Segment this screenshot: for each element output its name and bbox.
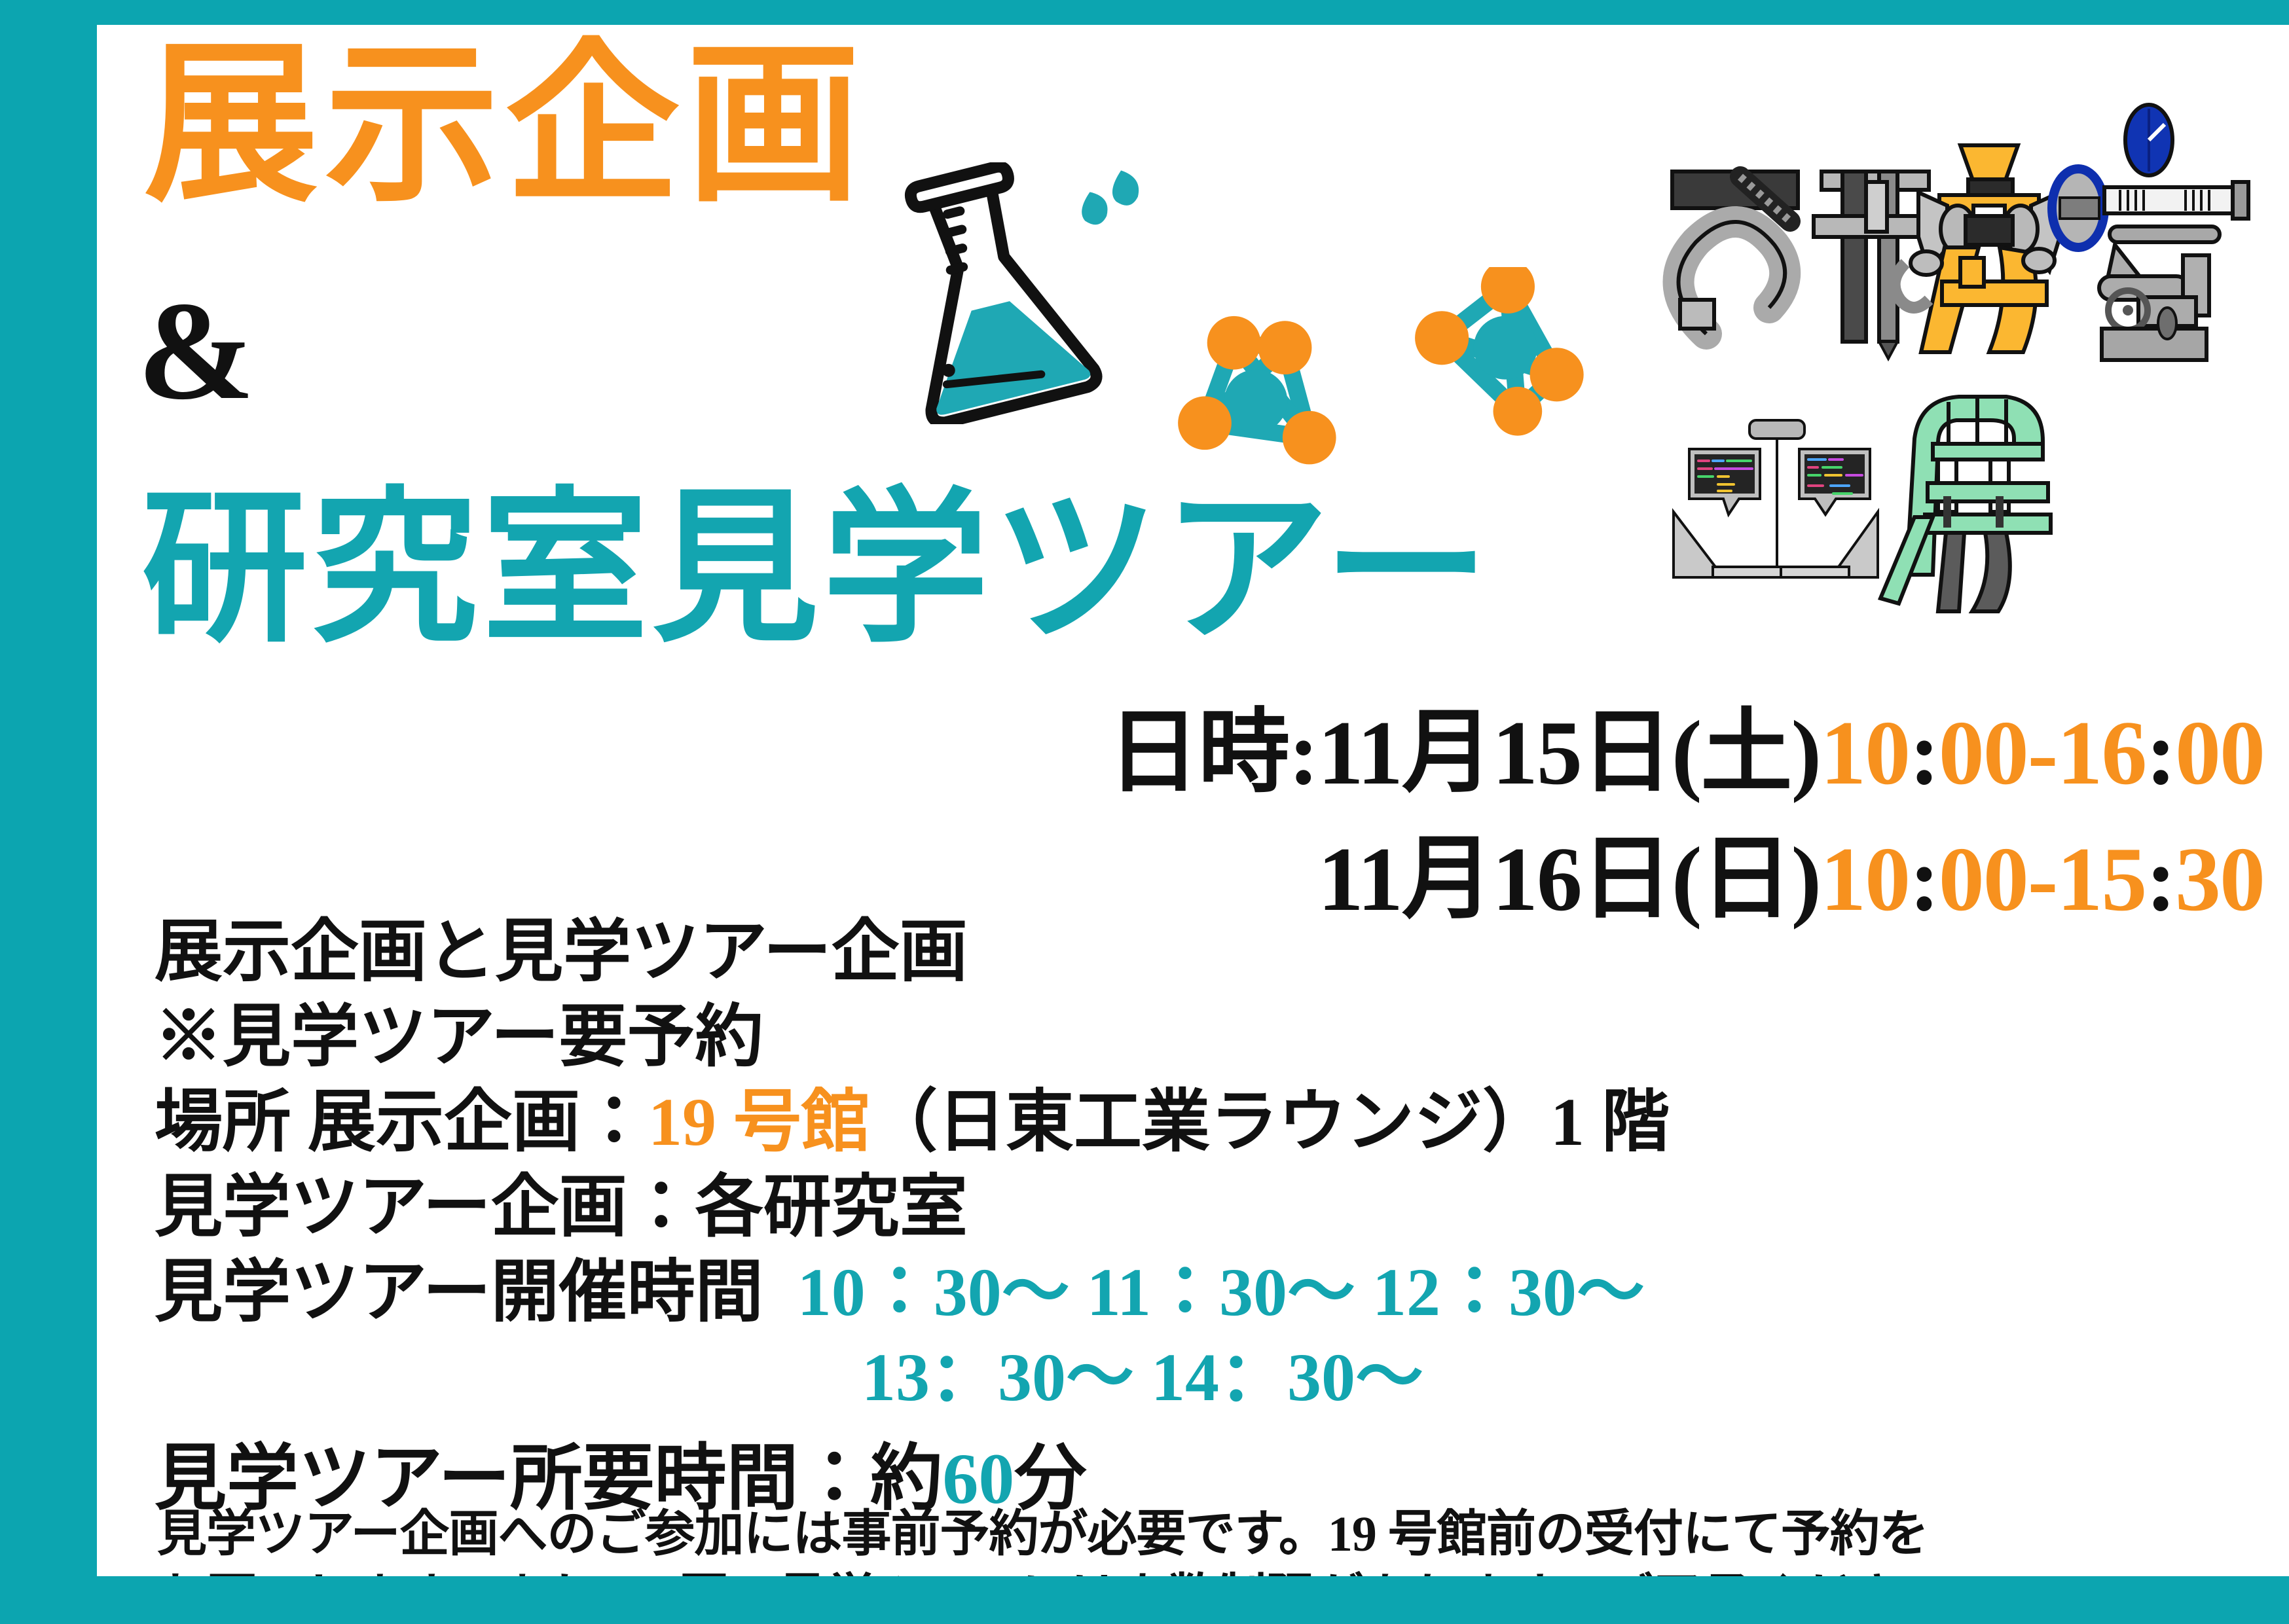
detail-tour-times-label: 見学ツアー開催時間 xyxy=(155,1255,763,1330)
lab-tools-typography-graphic xyxy=(1649,90,2251,365)
tour-time-4: 13：30～ xyxy=(862,1340,1134,1415)
detail-reservation-note: ※見学ツアー要予約 xyxy=(155,995,2250,1080)
poster-root: 展示企画 & 研究室見学ツアー xyxy=(0,0,2289,1624)
molecule-tetrahedron-icon xyxy=(1400,267,1596,450)
tour-time-1: 10：30～ xyxy=(797,1255,1070,1330)
detail-tour-times-row-2: 13：30～ 14：30～ xyxy=(155,1335,2250,1420)
datetime-dash-1: - xyxy=(2028,702,2057,804)
details-block: 展示企画と見学ツアー企画 ※見学ツアー要予約 場所 展示企画：19 号館（日東工… xyxy=(155,910,2250,1526)
detail-tour-times-row-1: 見学ツアー開催時間 10：30～ 11：30～ 12：30～ xyxy=(155,1250,2250,1335)
page-title-sub: 研究室見学ツアー xyxy=(141,487,1493,653)
liquid-splash-drops-icon xyxy=(1072,166,1158,238)
datetime-label: 日時: xyxy=(1108,702,1318,804)
datetime-start-hour-1: 10 xyxy=(1820,702,1909,804)
page-title-main: 展示企画 xyxy=(144,39,867,213)
tour-time-2: 11：30～ xyxy=(1087,1255,1355,1330)
exhibit-tech-typography-graphic xyxy=(1655,391,2179,627)
detail-tour-venue: 見学ツアー企画：各研究室 xyxy=(155,1165,2250,1250)
poster-inner-panel: 展示企画 & 研究室見学ツアー xyxy=(97,25,2289,1576)
tour-time-3: 12：30～ xyxy=(1372,1255,1645,1330)
datetime-end-min-1: 00 xyxy=(2175,702,2264,804)
detail-venue-label: 場所 展示企画： xyxy=(155,1085,648,1160)
datetime-block: 日時:11月15日(土)10:00-16:00 11月16日(日)10:00-1… xyxy=(97,690,2264,943)
datetime-colon-1a: : xyxy=(1909,702,1939,804)
detail-venue-building: 19 号館 xyxy=(648,1085,870,1160)
molecule-tetrahedron-icon xyxy=(1158,306,1354,477)
detail-venue-rest: （日東工業ラウンジ）1 階 xyxy=(870,1085,1670,1160)
datetime-start-min-1: 00 xyxy=(1939,702,2028,804)
detail-venue: 場所 展示企画：19 号館（日東工業ラウンジ）1 階 xyxy=(155,1080,2250,1165)
detail-overview: 展示企画と見学ツアー企画 xyxy=(155,910,2250,995)
datetime-end-hour-1: 16 xyxy=(2057,702,2146,804)
fineprint-line-1: 見学ツアー企画へのご参加には事前予約が必要です。19 号館前の受付にて予約を xyxy=(157,1503,2252,1566)
fineprint-line-2: お願いします。また、1 回の見学ツアーには人数制限があります。ご了承ください。 xyxy=(157,1566,2252,1576)
datetime-line-1: 日時:11月15日(土)10:00-16:00 xyxy=(97,690,2264,816)
datetime-date-1: 11月15日(土) xyxy=(1318,702,1821,804)
title-ampersand: & xyxy=(137,280,255,421)
datetime-colon-1b: : xyxy=(2146,702,2175,804)
tour-time-5: 14：30～ xyxy=(1151,1340,1423,1415)
fineprint-block: 見学ツアー企画へのご参加には事前予約が必要です。19 号館前の受付にて予約を お… xyxy=(157,1503,2252,1576)
